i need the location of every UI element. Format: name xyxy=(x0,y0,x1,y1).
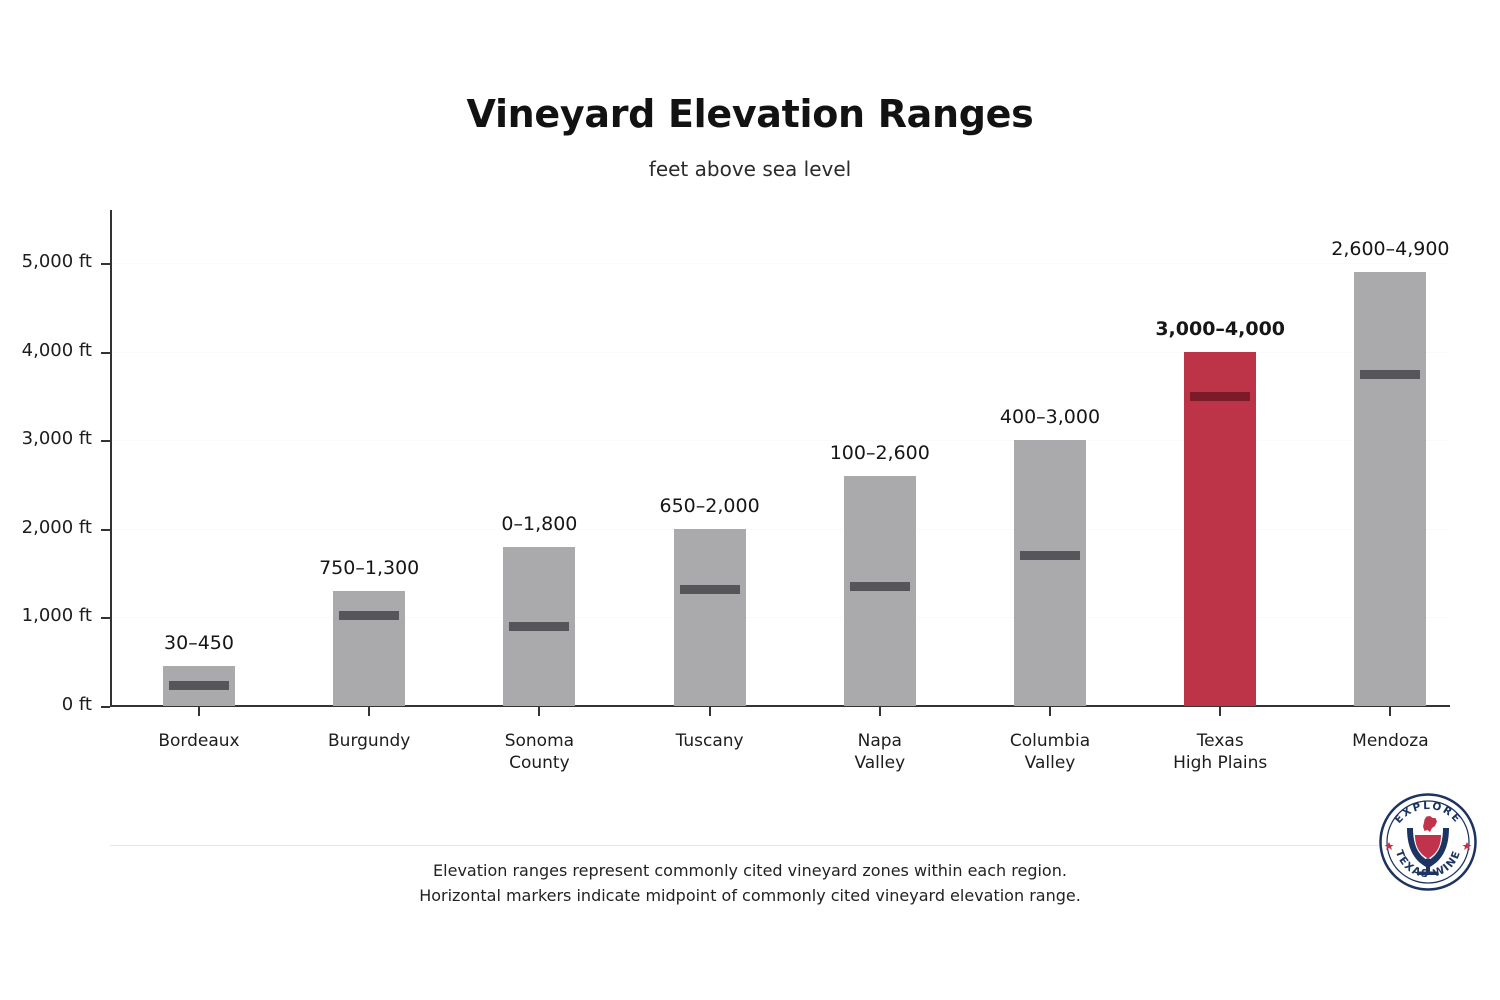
bar-value-label: 650–2,000 xyxy=(580,495,840,517)
bar-value-label: 30–450 xyxy=(69,632,329,654)
bar-midpoint-marker xyxy=(680,585,740,594)
y-tick-mark xyxy=(101,529,110,531)
x-tick-mark xyxy=(538,707,540,716)
bar-burgundy[interactable] xyxy=(333,0,405,706)
x-tick-mark xyxy=(1049,707,1051,716)
bar-midpoint-marker xyxy=(1020,551,1080,560)
footnote: Elevation ranges represent commonly cite… xyxy=(0,858,1500,908)
logo-badge-icon: EXPLORE TEXAS WINE xyxy=(1378,792,1478,892)
chart-canvas: Vineyard Elevation Ranges feet above sea… xyxy=(0,0,1500,1000)
y-tick-label: 4,000 ft xyxy=(0,340,92,361)
bar-value-label: 750–1,300 xyxy=(239,557,499,579)
x-tick-mark xyxy=(1389,707,1391,716)
footnote-line-2: Horizontal markers indicate midpoint of … xyxy=(0,883,1500,908)
bar-columbia-valley[interactable] xyxy=(1014,0,1086,706)
y-tick-label: 3,000 ft xyxy=(0,428,92,449)
y-tick-label: 5,000 ft xyxy=(0,251,92,272)
bar-value-label: 100–2,600 xyxy=(750,442,1010,464)
bar-bordeaux[interactable] xyxy=(163,0,235,706)
bar-value-label: 400–3,000 xyxy=(920,406,1180,428)
bar-napa-valley[interactable] xyxy=(844,0,916,706)
y-tick-mark xyxy=(101,263,110,265)
bar-rect xyxy=(674,529,746,706)
x-tick-mark xyxy=(1219,707,1221,716)
x-tick-mark xyxy=(709,707,711,716)
footnote-line-1: Elevation ranges represent commonly cite… xyxy=(0,858,1500,883)
bar-sonoma-county[interactable] xyxy=(503,0,575,706)
y-tick-mark xyxy=(101,352,110,354)
bar-tuscany[interactable] xyxy=(674,0,746,706)
bar-value-label: 2,600–4,900 xyxy=(1260,238,1500,260)
footer-divider xyxy=(110,845,1450,846)
x-tick-mark xyxy=(879,707,881,716)
y-tick-mark xyxy=(101,440,110,442)
x-tick-mark xyxy=(368,707,370,716)
bar-rect xyxy=(1354,272,1426,706)
x-tick-mark xyxy=(198,707,200,716)
category-label-line-2: County xyxy=(439,752,639,774)
y-tick-label: 0 ft xyxy=(0,694,92,715)
y-tick-mark xyxy=(101,706,110,708)
y-tick-label: 1,000 ft xyxy=(0,605,92,626)
bar-rect xyxy=(333,591,405,706)
bar-value-label: 3,000–4,000 xyxy=(1090,318,1350,340)
bar-mendoza[interactable] xyxy=(1354,0,1426,706)
category-label-mendoza[interactable]: Mendoza xyxy=(1290,730,1490,752)
bar-midpoint-marker xyxy=(850,582,910,591)
y-tick-label: 2,000 ft xyxy=(0,517,92,538)
bar-midpoint-marker xyxy=(1360,370,1420,379)
y-tick-mark xyxy=(101,617,110,619)
bar-midpoint-marker xyxy=(169,681,229,690)
bar-midpoint-marker xyxy=(339,611,399,620)
explore-texas-wine-logo: EXPLORE TEXAS WINE xyxy=(1378,792,1478,892)
category-label-line-1: Mendoza xyxy=(1290,730,1490,752)
bar-midpoint-marker xyxy=(1190,392,1250,401)
category-label-line-2: High Plains xyxy=(1120,752,1320,774)
bar-rect xyxy=(1184,352,1256,706)
bar-midpoint-marker xyxy=(509,622,569,631)
bar-texas-high-plains[interactable] xyxy=(1184,0,1256,706)
bar-rect xyxy=(1014,440,1086,706)
